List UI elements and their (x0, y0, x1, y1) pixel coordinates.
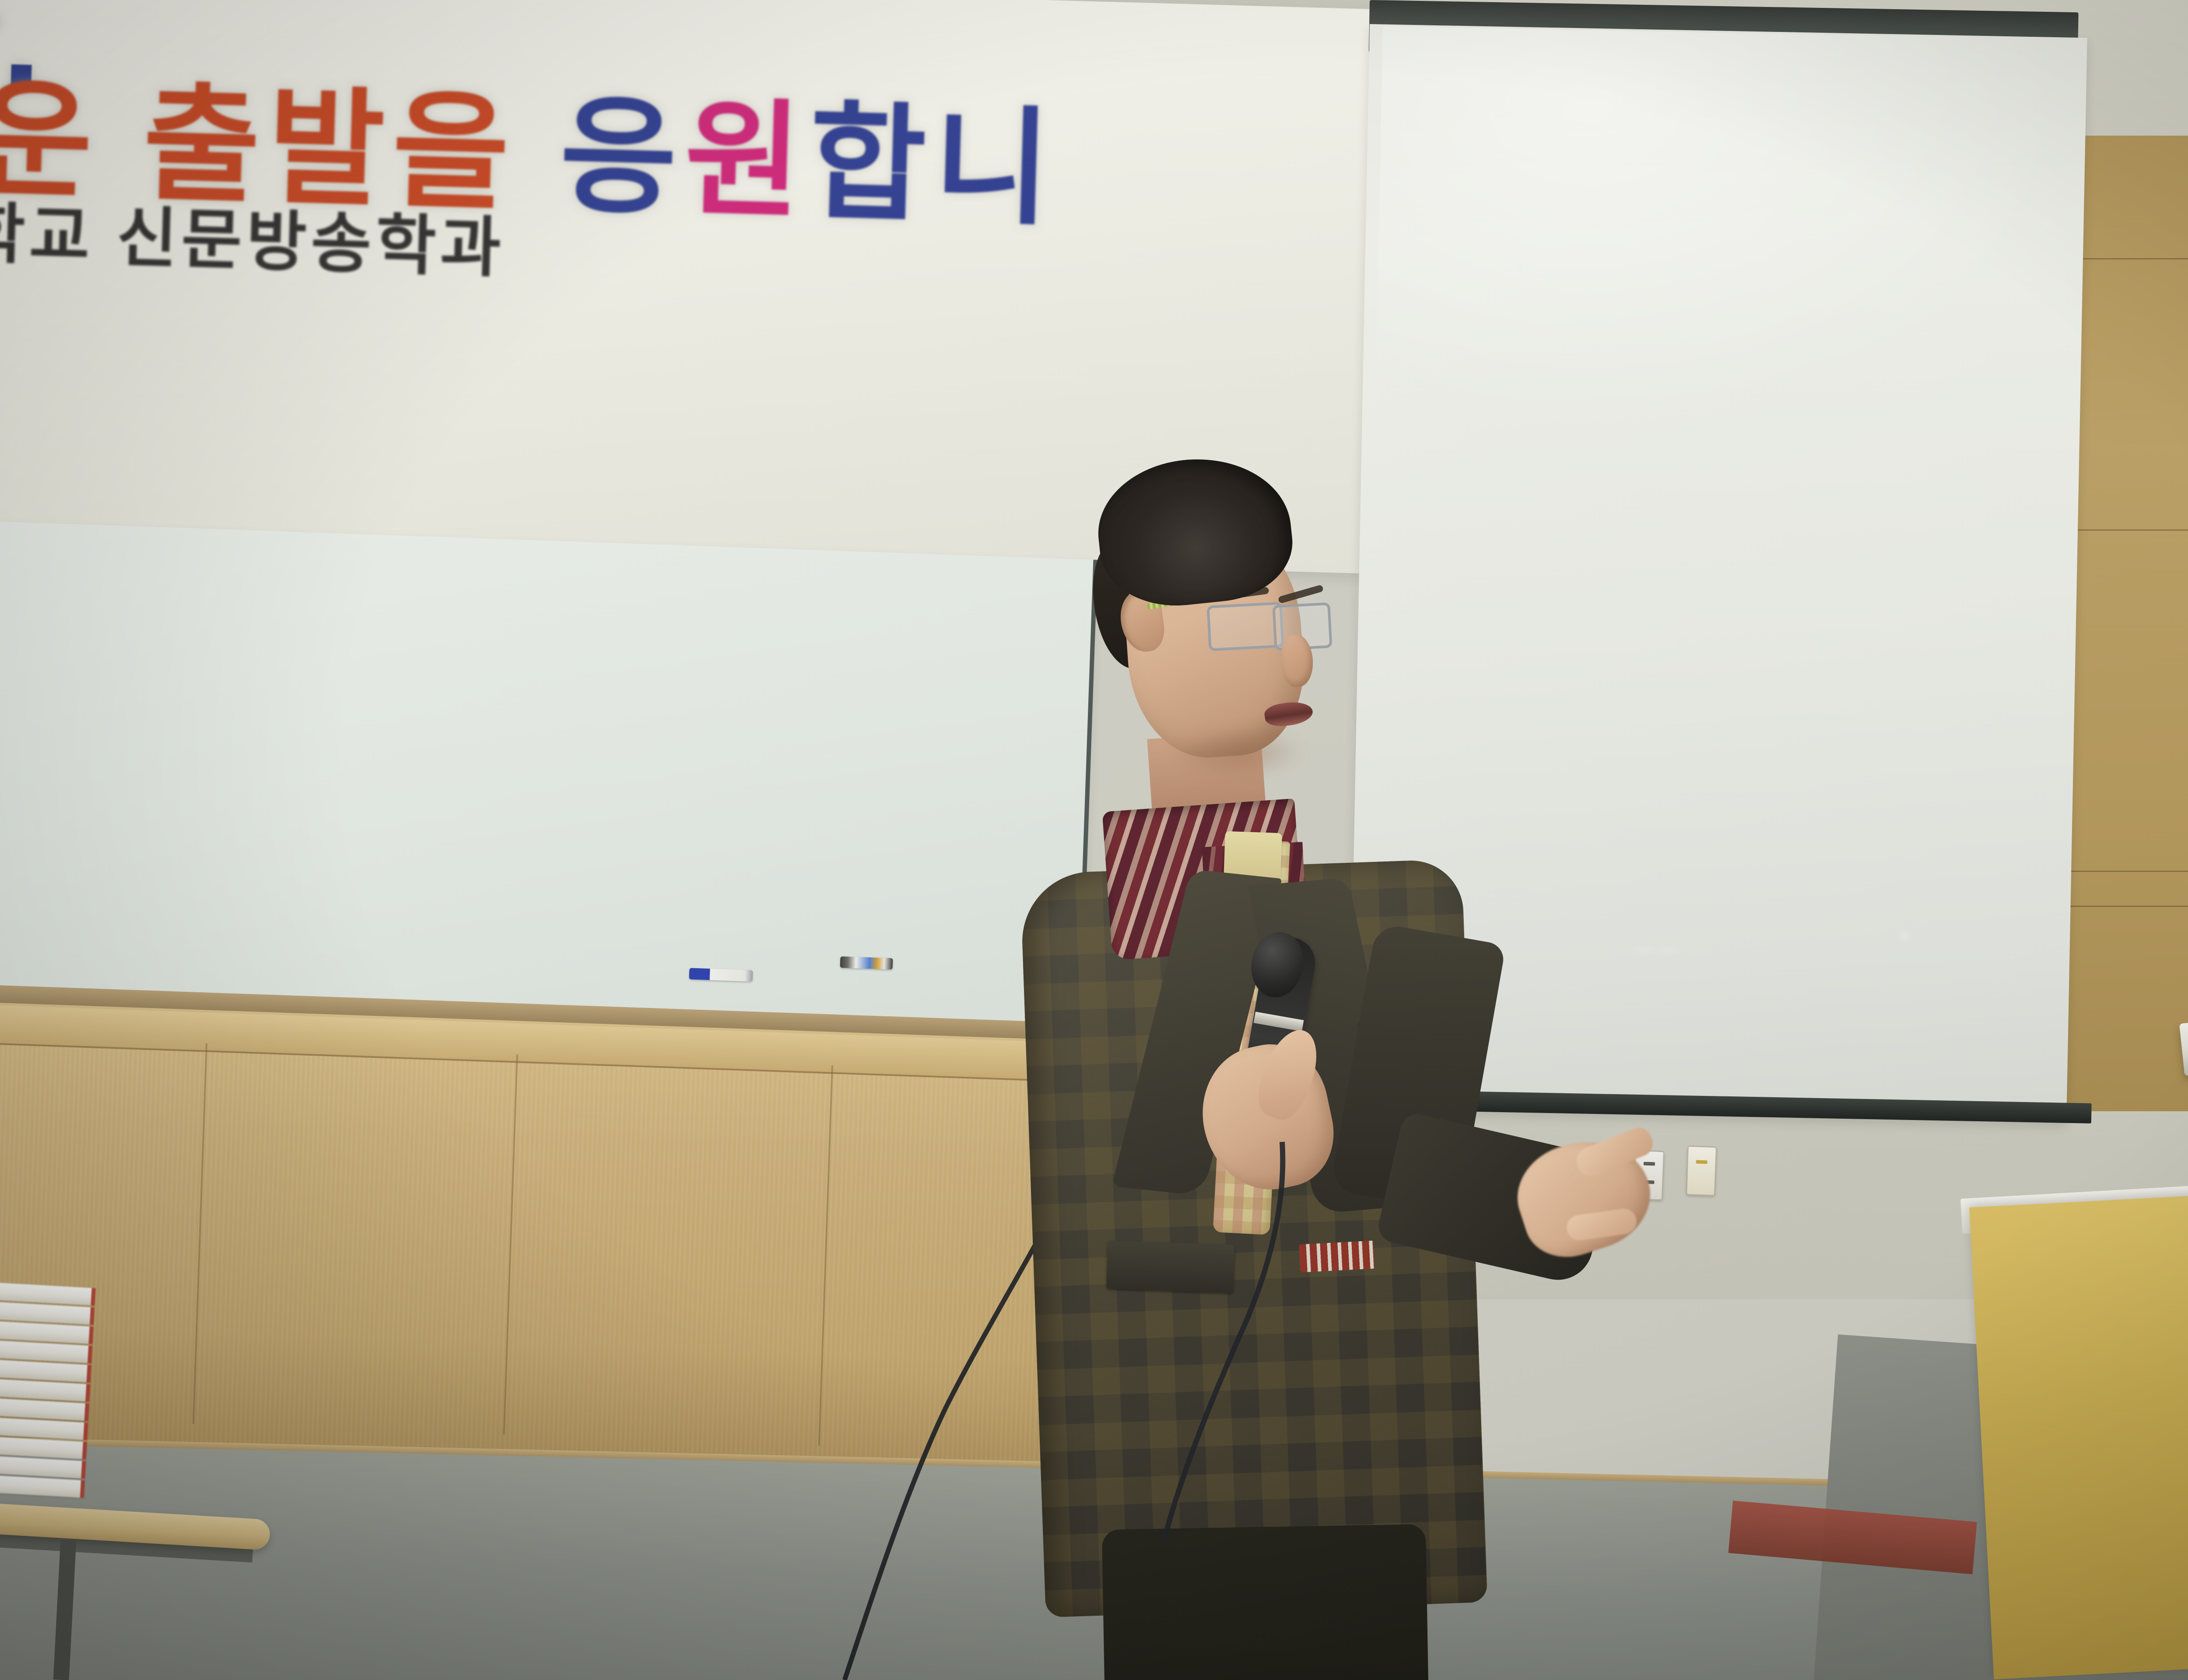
chin-shadow (1173, 726, 1304, 779)
lecture-hall-scene: 다. 로운 출발을 응원합니 구대학교 신문방송학과 —— • (0, 0, 2188, 1680)
wall-outlet-right-icon (1686, 1146, 1717, 1196)
banner-segment-navy-b: 합니 (807, 91, 1060, 240)
blue-marker-icon (689, 968, 753, 981)
banner-line-3: 구대학교 신문방송학과 (0, 176, 507, 290)
trousers (1102, 1524, 1436, 1680)
cabinet-grain (0, 1041, 1119, 1501)
jacket-pocket-flap (1106, 1240, 1235, 1293)
right-desk (1969, 1179, 2188, 1679)
multi-color-marker-icon (840, 956, 893, 969)
banner-segment-pink: 원 (683, 88, 811, 233)
belt (1299, 1241, 1375, 1273)
screen-faint-mark-1: —— (1634, 936, 1683, 960)
speaker (1020, 459, 1615, 1680)
screen-faint-mark-2: • (1901, 923, 1913, 947)
whiteboard (0, 521, 1098, 1036)
book-stack (0, 1282, 92, 1511)
banner-segment-navy-a: 응 (558, 84, 687, 230)
